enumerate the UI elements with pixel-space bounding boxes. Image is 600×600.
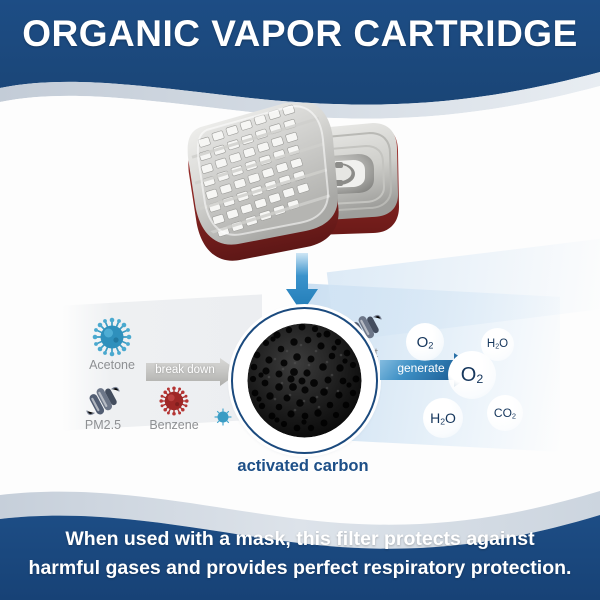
respirator-cartridge-pair-image xyxy=(178,103,423,273)
activated-carbon-label: activated carbon xyxy=(180,457,426,476)
bacteria-rod-icon xyxy=(86,385,120,417)
pollutant-label: Acetone xyxy=(78,358,146,372)
activated-carbon-circle xyxy=(231,307,378,454)
molecule-o2-large: O2 xyxy=(448,351,496,399)
footer-line-1: When used with a mask, this filter prote… xyxy=(0,525,600,553)
footer-caption: When used with a mask, this filter prote… xyxy=(0,525,600,582)
loose-particle-3 xyxy=(213,407,233,432)
diagram-stage: Acetone Dust xyxy=(0,95,600,495)
footer-banner: When used with a mask, this filter prote… xyxy=(0,475,600,600)
pollutant-label: Benzene xyxy=(138,418,210,432)
cartridge-front xyxy=(178,103,353,267)
pollutant-benzene: Benzene xyxy=(138,385,210,432)
virus-particle-icon xyxy=(158,385,190,417)
molecule-formula: O2 xyxy=(417,334,434,351)
pollutant-pm25: PM2.5 xyxy=(70,385,136,432)
pollutant-label: PM2.5 xyxy=(70,418,136,432)
molecule-o2-small: O2 xyxy=(406,323,444,361)
molecule-formula: CO2 xyxy=(494,406,516,420)
molecule-formula: O2 xyxy=(461,364,483,387)
activated-carbon-granules-image xyxy=(239,315,370,446)
footer-line-2: harmful gases and provides perfect respi… xyxy=(0,554,600,582)
page-title: ORGANIC VAPOR CARTRIDGE xyxy=(0,13,600,55)
break-down-label: break down xyxy=(146,364,224,376)
molecule-co2: CO2 xyxy=(487,395,523,431)
poster: ORGANIC VAPOR CARTRIDGE xyxy=(0,0,600,600)
arrow-down-icon xyxy=(285,253,319,315)
pollutant-acetone: Acetone xyxy=(78,317,146,372)
molecule-h2o-medium: H2O xyxy=(423,398,463,438)
virus-particle-icon xyxy=(92,317,132,357)
molecule-formula: H2O xyxy=(430,410,456,427)
molecule-formula: H2O xyxy=(487,338,508,350)
virus-particle-icon xyxy=(213,407,233,427)
break-down-arrow: break down xyxy=(146,358,240,386)
